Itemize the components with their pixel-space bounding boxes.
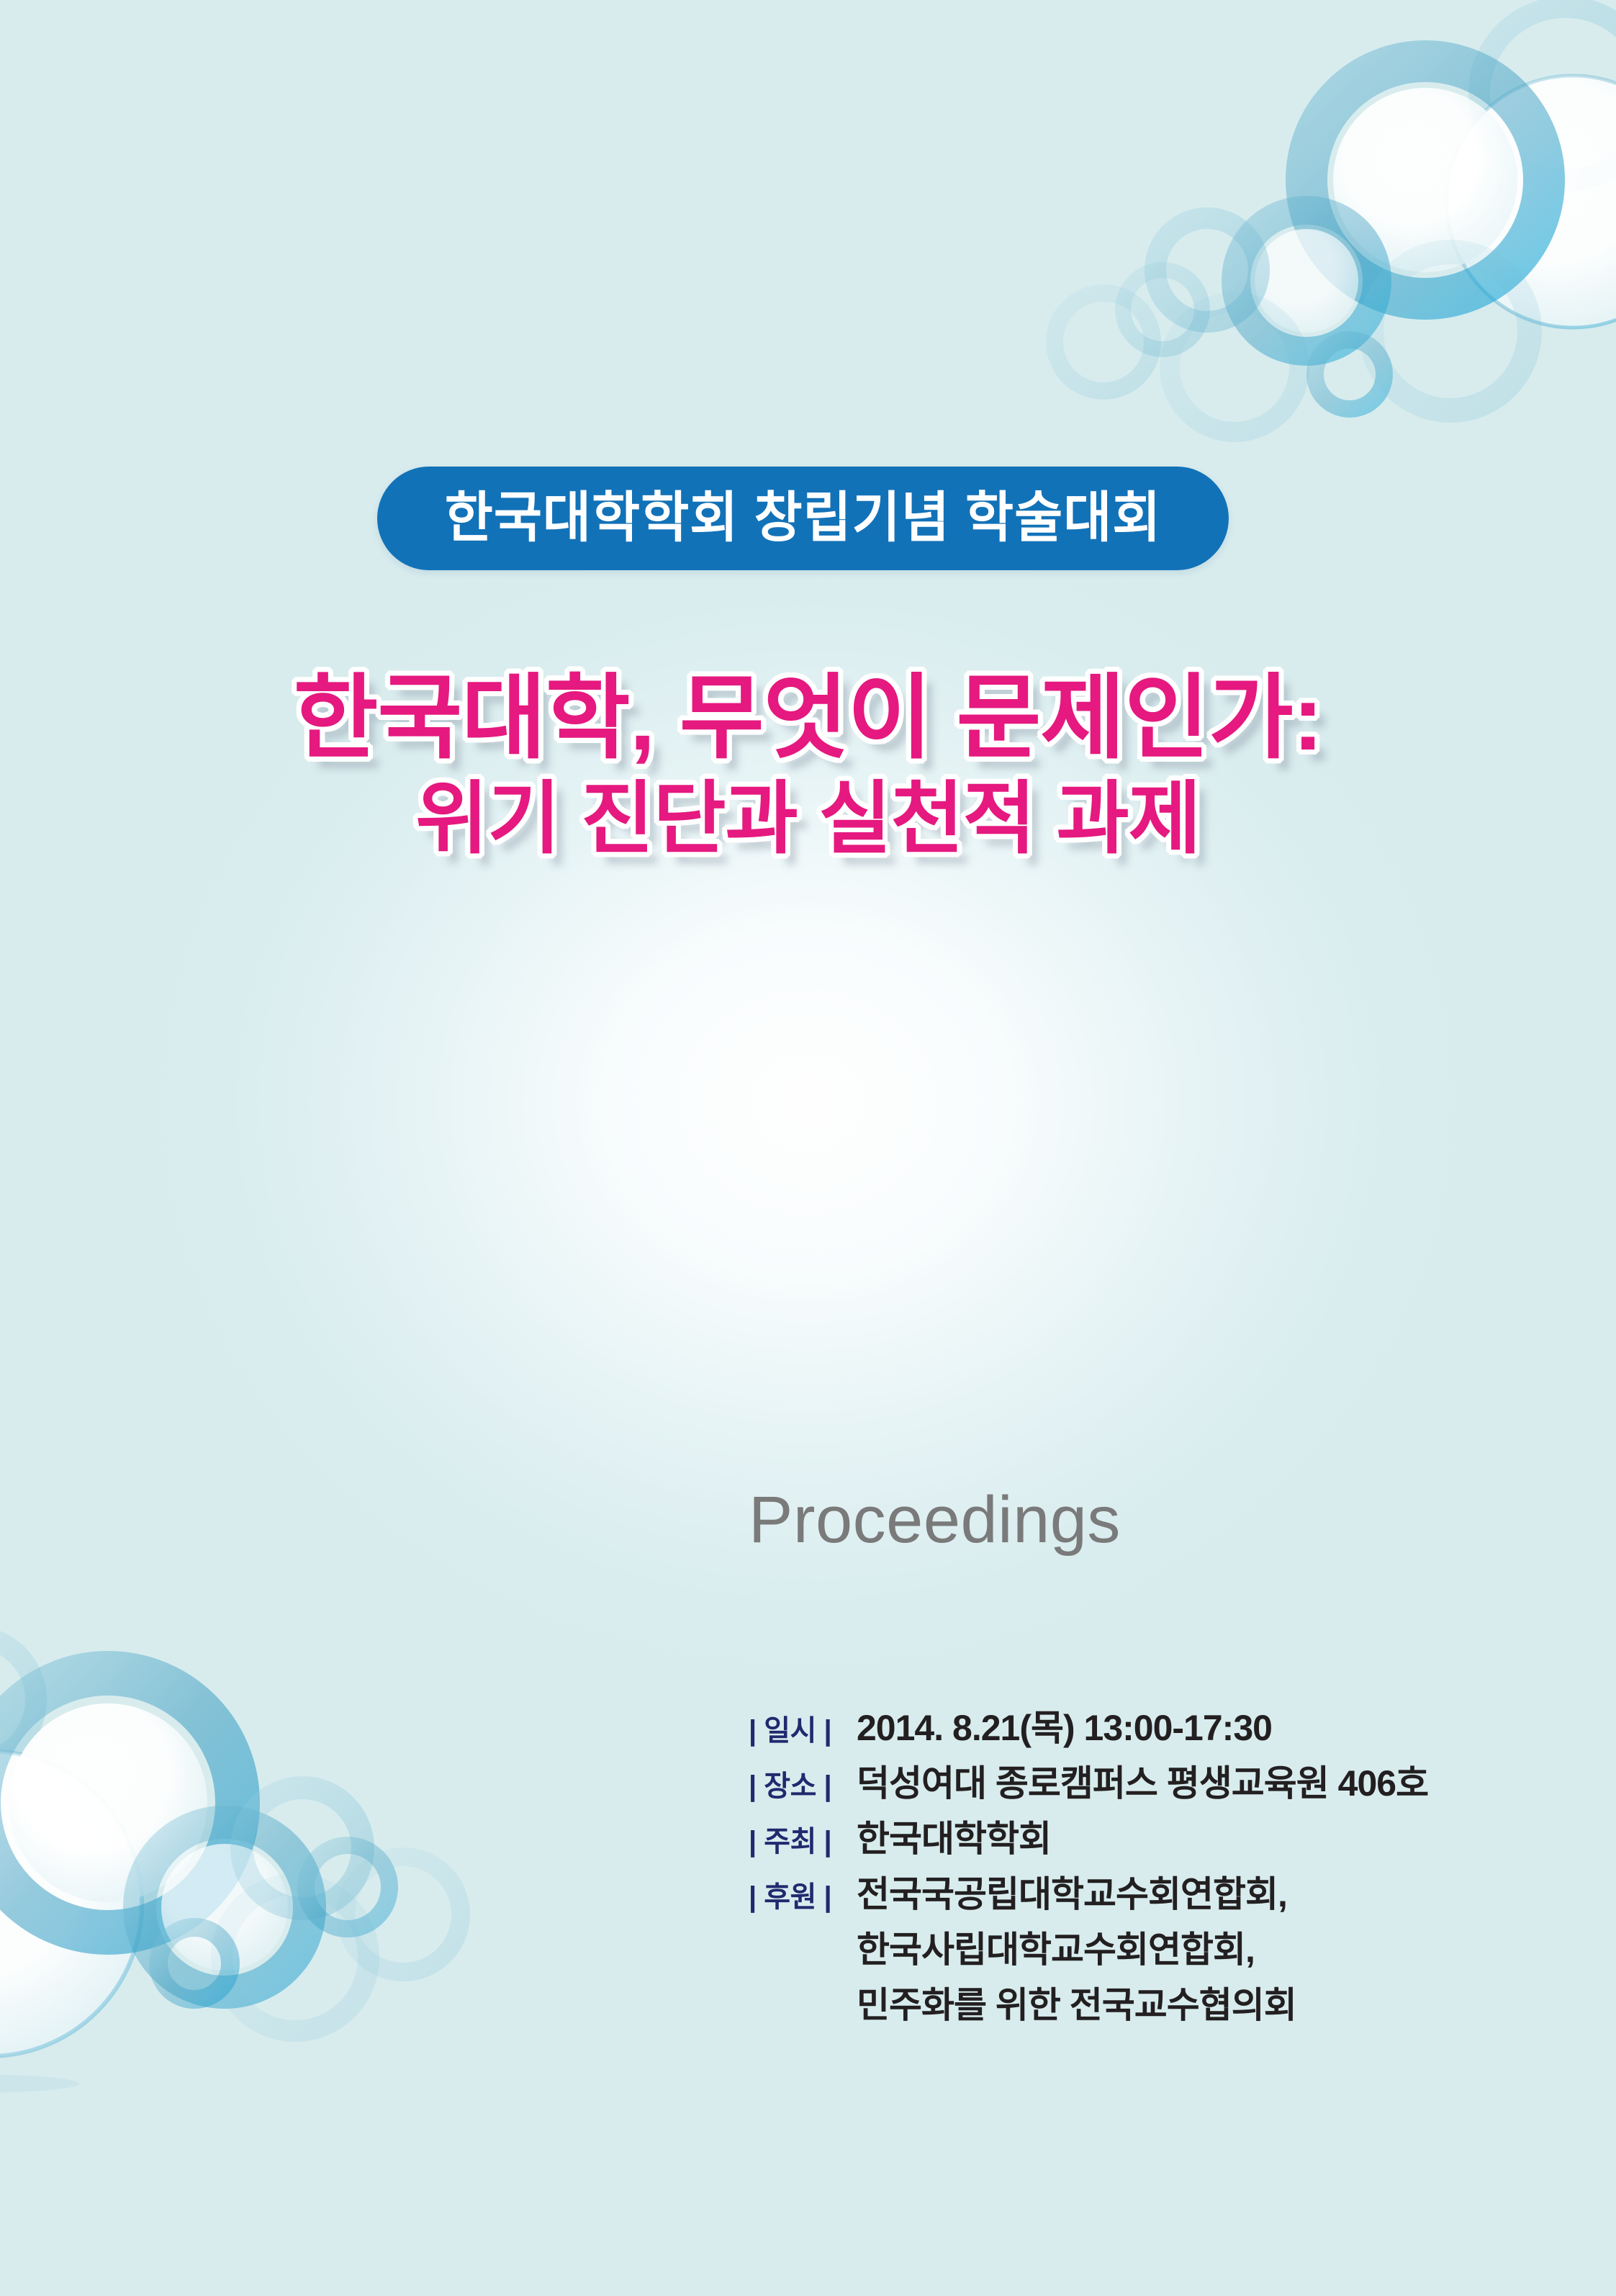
event-details: | 일시 | 2014. 8.21(목) 13:00-17:30 | 장소 | … (749, 1705, 1555, 2038)
detail-row-sponsor-cont-2: | 후원 | 민주화를 위한 전국교수협의회 (749, 1982, 1555, 2030)
detail-label-host: | 주최 | (749, 1819, 857, 1864)
title-line-primary: 한국대학, 무엇이 문제인가: (0, 670, 1616, 767)
title-line-secondary: 위기 진단과 실천적 과제 (0, 778, 1616, 862)
poster-page: 한국대학학회 창립기념 학술대회 한국대학, 무엇이 문제인가: 위기 진단과 … (0, 0, 1616, 2296)
detail-row-host: | 주최 | 한국대학학회 (749, 1816, 1555, 1864)
detail-row-datetime: | 일시 | 2014. 8.21(목) 13:00-17:30 (749, 1705, 1555, 1753)
bubble-cluster-top-right-icon (1019, 0, 1616, 504)
detail-label-sponsor: | 후원 | (749, 1875, 857, 1919)
detail-value-host: 한국대학학회 (857, 1816, 1555, 1863)
conference-badge-label: 한국대학학회 창립기념 학술대회 (445, 491, 1162, 546)
bubble-cluster-bottom-left-icon (0, 1619, 518, 2195)
detail-row-venue: | 장소 | 덕성여대 종로캠퍼스 평생교육원 406호 (749, 1760, 1555, 1809)
detail-row-sponsor: | 후원 | 전국국공립대학교수회연합회, (749, 1871, 1555, 1919)
detail-value-venue: 덕성여대 종로캠퍼스 평생교육원 406호 (857, 1760, 1555, 1807)
page-title: 한국대학, 무엇이 문제인가: 위기 진단과 실천적 과제 (0, 670, 1616, 861)
detail-value-sponsor-3: 민주화를 위한 전국교수협의회 (857, 1982, 1555, 2029)
detail-label-venue: | 장소 | (749, 1764, 857, 1809)
proceedings-label: Proceedings (749, 1487, 1121, 1553)
detail-label-datetime: | 일시 | (749, 1709, 857, 1753)
detail-value-sponsor-1: 전국국공립대학교수회연합회, (857, 1871, 1555, 1918)
conference-badge: 한국대학학회 창립기념 학술대회 (377, 467, 1229, 570)
detail-row-sponsor-cont-1: | 후원 | 한국사립대학교수회연합회, (749, 1927, 1555, 1975)
detail-value-datetime: 2014. 8.21(목) 13:00-17:30 (857, 1705, 1555, 1752)
detail-value-sponsor-2: 한국사립대학교수회연합회, (857, 1927, 1555, 1973)
